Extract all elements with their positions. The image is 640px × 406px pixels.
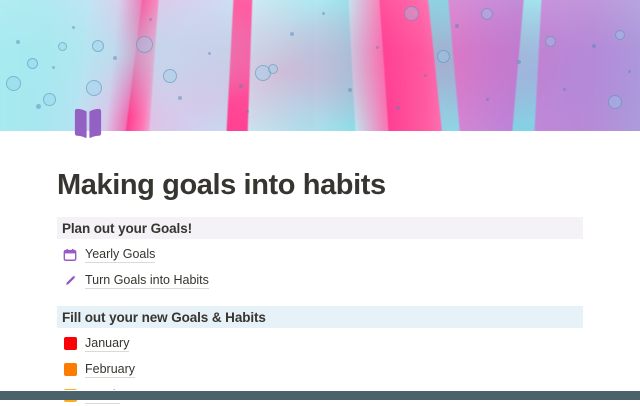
notion-page: Making goals into habits Plan out your G… bbox=[0, 0, 640, 400]
section-header-fill-out-your-new-goals-habits: Fill out your new Goals & Habits bbox=[57, 306, 583, 328]
color-swatch-icon bbox=[62, 362, 78, 378]
list-item[interactable]: Turn Goals into Habits bbox=[57, 270, 583, 291]
color-swatch-icon bbox=[62, 336, 78, 352]
list-item[interactable]: Yearly Goals bbox=[57, 244, 583, 265]
pencil-icon bbox=[62, 273, 78, 289]
list-item-label[interactable]: Yearly Goals bbox=[85, 247, 155, 263]
open-book-icon[interactable] bbox=[64, 100, 112, 148]
bottom-status-bar bbox=[0, 390, 640, 400]
page-title: Making goals into habits bbox=[57, 131, 583, 202]
list-item-label[interactable]: Turn Goals into Habits bbox=[85, 273, 209, 289]
list-item[interactable]: January bbox=[57, 333, 583, 354]
section-title: Plan out your Goals! bbox=[62, 221, 192, 236]
list-item[interactable]: February bbox=[57, 359, 583, 380]
section-header-plan-out-your-goals: Plan out your Goals! bbox=[57, 217, 583, 239]
list-item-label[interactable]: February bbox=[85, 362, 135, 378]
section-title: Fill out your new Goals & Habits bbox=[62, 310, 266, 325]
list-item-label[interactable]: January bbox=[85, 336, 129, 352]
calendar-icon bbox=[62, 247, 78, 263]
page-content: Making goals into habits Plan out your G… bbox=[0, 131, 640, 406]
